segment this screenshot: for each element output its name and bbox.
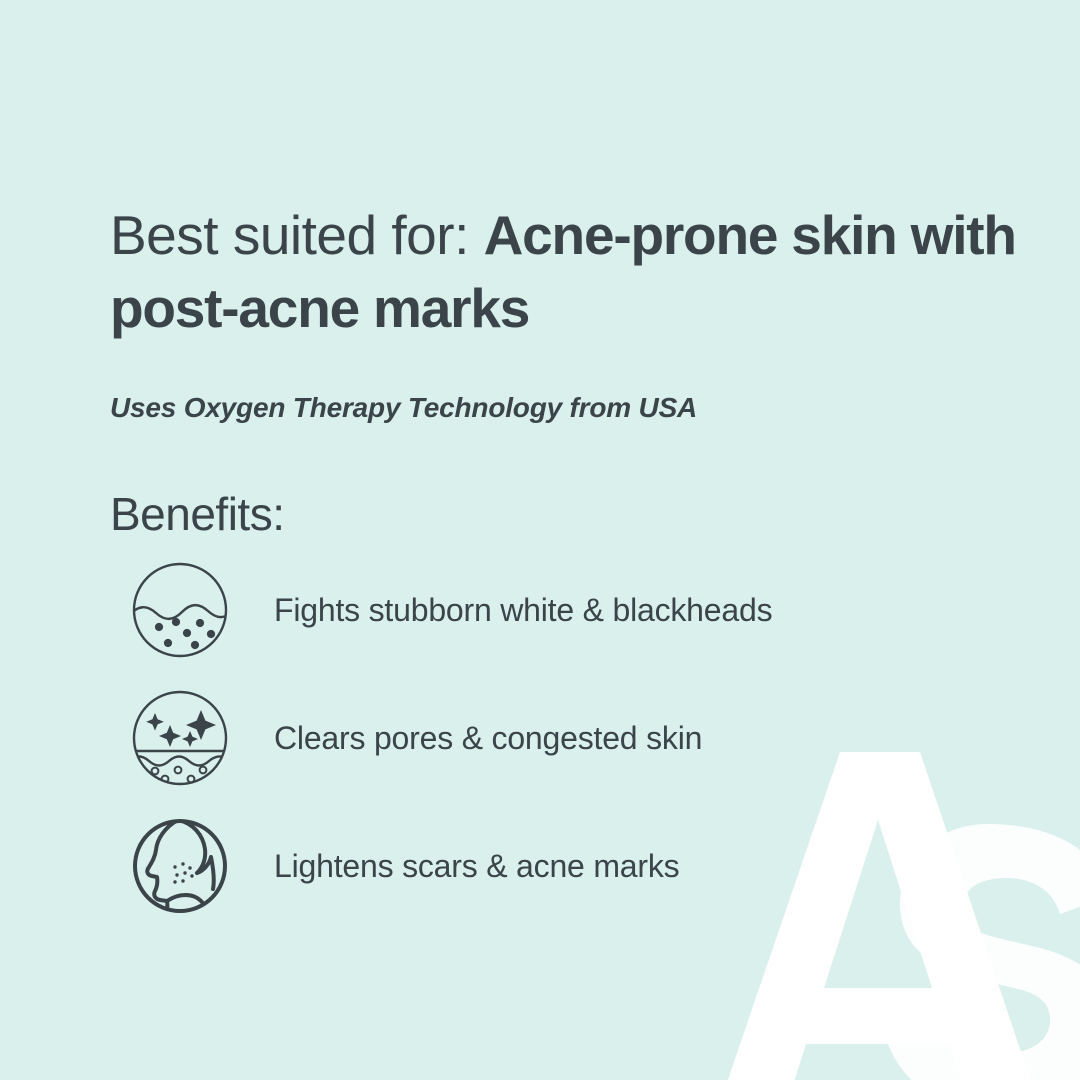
technology-subhead: Uses Oxygen Therapy Technology from USA (110, 392, 697, 424)
benefit-item: Clears pores & congested skin (130, 688, 1040, 788)
page-headline: Best suited for: Acne-prone skin with po… (110, 199, 1025, 345)
benefit-item: Fights stubborn white & blackheads (130, 560, 1040, 660)
pores-blackheads-icon (130, 560, 230, 660)
benefit-item: Lightens scars & acne marks (130, 816, 1040, 916)
benefit-label: Lightens scars & acne marks (274, 848, 679, 885)
benefits-list: Fights stubborn white & blackheads (130, 560, 1040, 944)
benefit-label: Clears pores & congested skin (274, 720, 702, 757)
benefit-label: Fights stubborn white & blackheads (274, 592, 772, 629)
benefits-heading: Benefits: (110, 487, 285, 541)
sparkle-clear-pores-icon (130, 688, 230, 788)
face-profile-acne-marks-icon (130, 816, 230, 916)
poster-canvas: Best suited for: Acne-prone skin with po… (0, 0, 1080, 1080)
headline-lead: Best suited for: (110, 204, 484, 266)
